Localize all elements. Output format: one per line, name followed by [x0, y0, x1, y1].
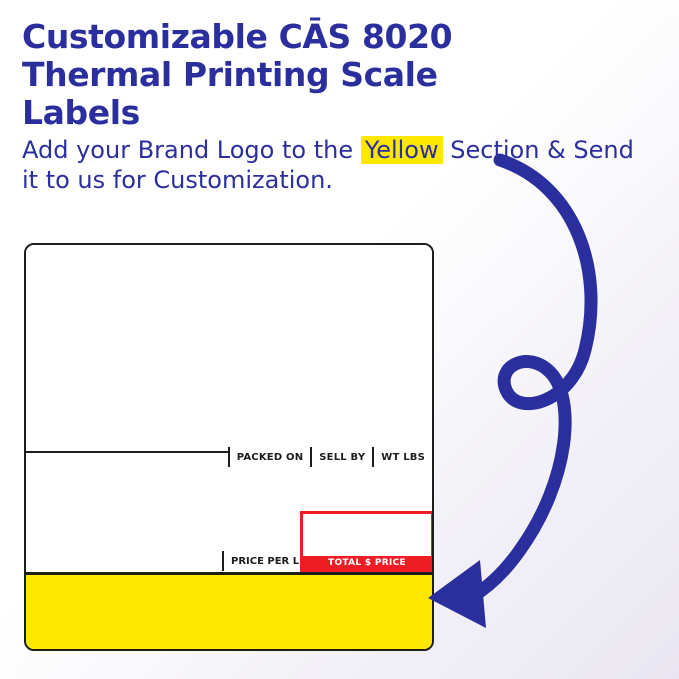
field-total-price: TOTAL $ PRICE: [303, 556, 431, 570]
page-title-line-3: Labels: [22, 94, 642, 132]
page-canvas: Customizable CĀS 8020 Thermal Printing S…: [0, 0, 679, 679]
total-price-box: TOTAL $ PRICE: [300, 511, 434, 573]
label-blank-product-area: [26, 245, 432, 451]
page-title-line-2: Thermal Printing Scale: [22, 56, 642, 94]
subtitle-text-before-highlight: Add your Brand Logo to the: [22, 136, 361, 164]
page-title: Customizable CĀS 8020 Thermal Printing S…: [22, 18, 642, 132]
field-wt-lbs: WT LBS: [372, 447, 432, 467]
scale-label-template: PACKED ON SELL BY WT LBS PRICE PER LB TO…: [24, 243, 434, 651]
label-date-row: PACKED ON SELL BY WT LBS: [26, 446, 432, 468]
field-packed-on: PACKED ON: [228, 447, 311, 467]
highlight-yellow-word: Yellow: [361, 136, 443, 164]
curved-arrow-pointing-to-yellow-section: [400, 150, 640, 650]
page-title-line-1: Customizable CĀS 8020: [22, 18, 642, 56]
brand-logo-yellow-section: [26, 575, 432, 649]
page-subtitle: Add your Brand Logo to the Yellow Sectio…: [22, 135, 642, 195]
field-sell-by: SELL BY: [310, 447, 372, 467]
